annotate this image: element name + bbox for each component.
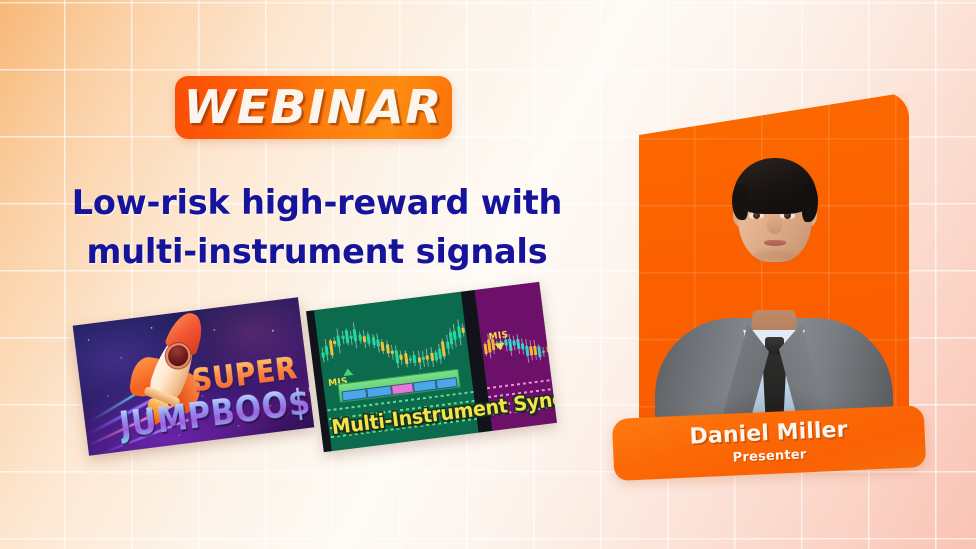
card-super-jumpboost[interactable]: SUPER JUMPBOO$T	[73, 297, 315, 455]
presenter-name: Daniel Miller	[689, 419, 848, 448]
card-multi-instrument-synergy[interactable]: MIS MIS Multi-Instrument Synergy	[306, 282, 557, 452]
presenter-name-badge: Daniel Miller Presenter	[612, 405, 926, 481]
presenter-role: Presenter	[732, 448, 806, 464]
presenter-photo-panel	[639, 92, 909, 450]
webinar-promo-canvas: WEBINAR Low-risk high-reward with multi-…	[0, 0, 976, 549]
headline-line-1: Low-risk high-reward with	[62, 178, 572, 227]
mis-marker-up-icon	[343, 368, 354, 376]
webinar-badge: WEBINAR	[175, 76, 452, 139]
headline-line-2: multi-instrument signals	[62, 227, 572, 276]
mis-marker-down-icon	[495, 343, 506, 351]
page-title: Low-risk high-reward with multi-instrume…	[62, 178, 572, 276]
presenter-portrait	[639, 92, 909, 450]
webinar-badge-label: WEBINAR	[184, 84, 443, 130]
